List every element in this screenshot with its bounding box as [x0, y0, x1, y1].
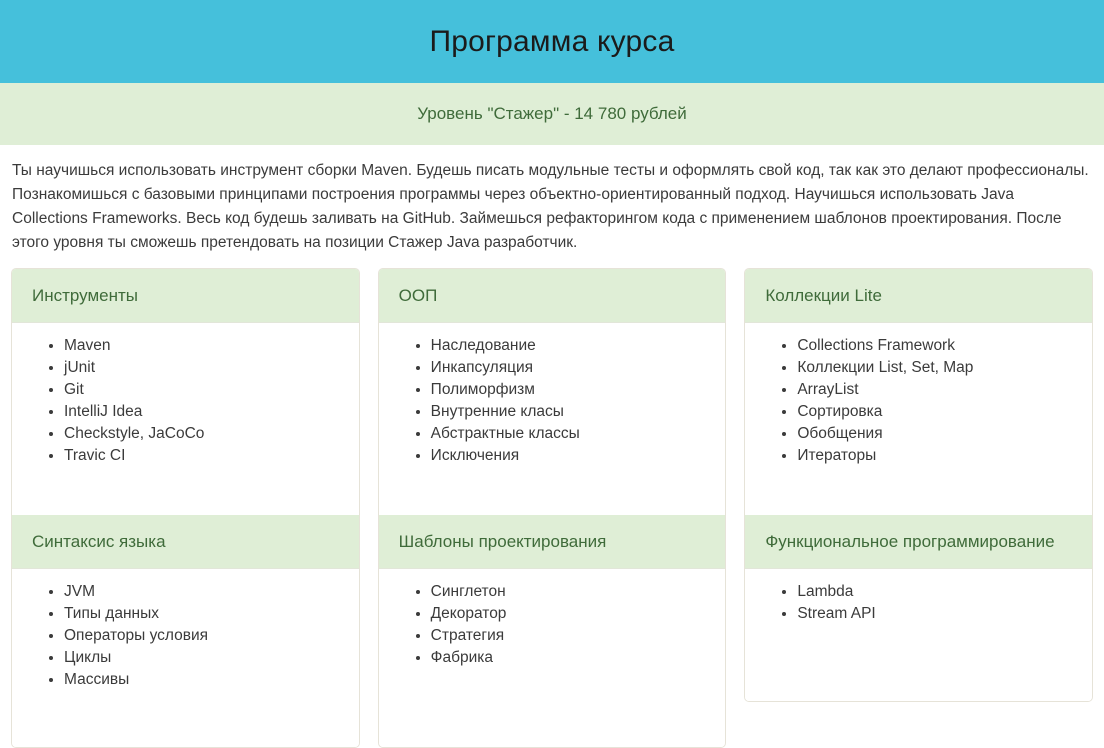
topic-card-body: JVM Типы данных Операторы условия Циклы … [12, 569, 359, 747]
list-item: jUnit [64, 357, 347, 379]
topic-card-header: Инструменты [12, 269, 359, 323]
topics-column-3: Коллекции Lite Collections Framework Кол… [744, 268, 1093, 702]
topic-card-title: Инструменты [32, 285, 339, 307]
level-price-text: Уровень "Стажер" - 14 780 рублей [417, 104, 687, 124]
list-item: Абстрактные классы [431, 423, 714, 445]
topic-list: Lambda Stream API [757, 581, 1080, 625]
list-item: Внутренние класы [431, 401, 714, 423]
list-item: ArrayList [797, 379, 1080, 401]
list-item: Инкапсуляция [431, 357, 714, 379]
topic-card-title: Шаблоны проектирования [399, 531, 706, 553]
topic-card-syntax: Синтаксис языка JVM Типы данных Оператор… [12, 515, 359, 747]
topic-card-header: Коллекции Lite [745, 269, 1092, 323]
topics-column-1: Инструменты Maven jUnit Git IntelliJ Ide… [11, 268, 360, 748]
topic-card-body: Наследование Инкапсуляция Полиморфизм Вн… [379, 323, 726, 515]
topic-card-body: Maven jUnit Git IntelliJ Idea Checkstyle… [12, 323, 359, 515]
list-item: Итераторы [797, 445, 1080, 467]
topic-card-functional-programming: Функциональное программирование Lambda S… [745, 515, 1092, 701]
topic-card-collections: Коллекции Lite Collections Framework Кол… [745, 269, 1092, 515]
topic-list: Синглетон Декоратор Стратегия Фабрика [391, 581, 714, 669]
topic-card-instruments: Инструменты Maven jUnit Git IntelliJ Ide… [12, 269, 359, 515]
course-program-page: Программа курса Уровень "Стажер" - 14 78… [0, 0, 1104, 714]
list-item: Коллекции List, Set, Map [797, 357, 1080, 379]
list-item: Декоратор [431, 603, 714, 625]
list-item: IntelliJ Idea [64, 401, 347, 423]
list-item: Синглетон [431, 581, 714, 603]
list-item: JVM [64, 581, 347, 603]
topic-list: JVM Типы данных Операторы условия Циклы … [24, 581, 347, 691]
intro-paragraph: Ты научишься использовать инструмент сбо… [12, 159, 1092, 255]
list-item: Maven [64, 335, 347, 357]
topic-card-title: ООП [399, 285, 706, 307]
topic-card-oop: ООП Наследование Инкапсуляция Полиморфиз… [379, 269, 726, 515]
level-price-band: Уровень "Стажер" - 14 780 рублей [0, 83, 1104, 145]
list-item: Collections Framework [797, 335, 1080, 357]
topic-card-title: Функциональное программирование [765, 531, 1072, 553]
list-item: Checkstyle, JaCoCo [64, 423, 347, 445]
topic-card-header: Синтаксис языка [12, 515, 359, 569]
list-item: Полиморфизм [431, 379, 714, 401]
topic-card-body: Lambda Stream API [745, 569, 1092, 701]
topic-card-header: ООП [379, 269, 726, 323]
page-banner: Программа курса [0, 0, 1104, 83]
list-item: Исключения [431, 445, 714, 467]
list-item: Циклы [64, 647, 347, 669]
list-item: Типы данных [64, 603, 347, 625]
topic-list: Наследование Инкапсуляция Полиморфизм Вн… [391, 335, 714, 467]
page-title: Программа курса [429, 27, 674, 57]
topic-card-body: Collections Framework Коллекции List, Se… [745, 323, 1092, 515]
topic-list: Collections Framework Коллекции List, Se… [757, 335, 1080, 467]
list-item: Git [64, 379, 347, 401]
topics-column-2: ООП Наследование Инкапсуляция Полиморфиз… [378, 268, 727, 748]
list-item: Стратегия [431, 625, 714, 647]
list-item: Наследование [431, 335, 714, 357]
list-item: Обобщения [797, 423, 1080, 445]
topic-card-header: Шаблоны проектирования [379, 515, 726, 569]
list-item: Travic CI [64, 445, 347, 467]
topic-card-design-patterns: Шаблоны проектирования Синглетон Декорат… [379, 515, 726, 747]
list-item: Сортировка [797, 401, 1080, 423]
intro-section: Ты научишься использовать инструмент сбо… [0, 145, 1104, 255]
topic-list: Maven jUnit Git IntelliJ Idea Checkstyle… [24, 335, 347, 467]
list-item: Фабрика [431, 647, 714, 669]
list-item: Stream API [797, 603, 1080, 625]
topic-card-title: Синтаксис языка [32, 531, 339, 553]
topics-columns: Инструменты Maven jUnit Git IntelliJ Ide… [0, 268, 1104, 748]
list-item: Массивы [64, 669, 347, 691]
topic-card-header: Функциональное программирование [745, 515, 1092, 569]
list-item: Lambda [797, 581, 1080, 603]
topic-card-body: Синглетон Декоратор Стратегия Фабрика [379, 569, 726, 747]
list-item: Операторы условия [64, 625, 347, 647]
topic-card-title: Коллекции Lite [765, 285, 1072, 307]
